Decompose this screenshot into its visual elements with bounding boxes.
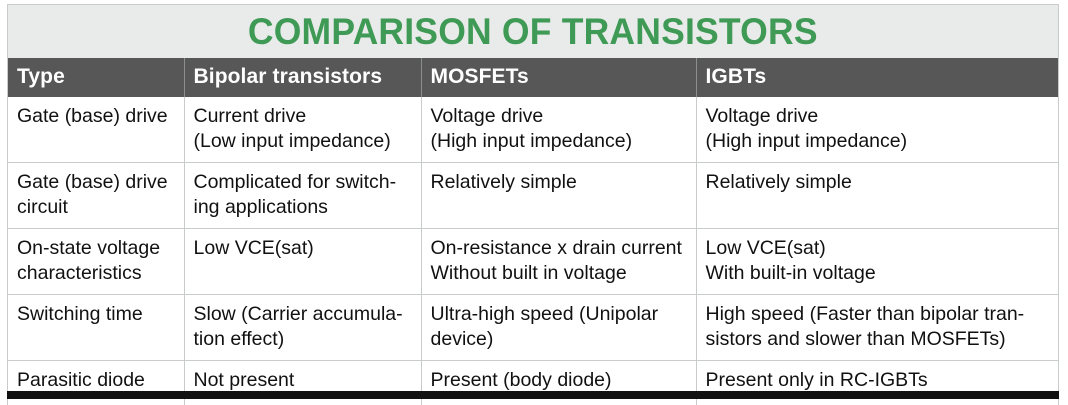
cell-line: Ultra-high speed (Unipolar	[431, 302, 688, 327]
cell-igbt: Voltage drive (High input impedance)	[696, 97, 1058, 163]
cell-line: Parasitic diode	[17, 368, 176, 393]
cell-line: Voltage drive	[706, 104, 1051, 129]
transistor-comparison-table: Type Bipolar transistors MOSFETs IGBTs G…	[8, 58, 1058, 405]
cell-line: On-resistance x drain current	[431, 236, 688, 261]
cell-line: (High input impedance)	[706, 129, 1051, 154]
cell-line: (Low input impedance)	[194, 129, 413, 154]
column-header-igbts: IGBTs	[696, 58, 1058, 97]
cell-line: Complicated for switch-	[194, 170, 413, 195]
cell-type: Gate (base) drive	[8, 97, 184, 163]
cell-line: High speed (Faster than bipolar tran-	[706, 302, 1051, 327]
cell-line: Slow (Carrier accumula-	[194, 302, 413, 327]
cell-line: (High input impedance)	[431, 129, 688, 154]
cell-line: Gate (base) drive	[17, 104, 176, 129]
table-row: Gate (base) drive circuit Complicated fo…	[8, 163, 1058, 229]
column-header-mosfets: MOSFETs	[421, 58, 696, 97]
comparison-table-page: COMPARISON OF TRANSISTORS Type Bipolar t…	[0, 0, 1068, 404]
header-row: Type Bipolar transistors MOSFETs IGBTs	[8, 58, 1058, 97]
cell-igbt: Relatively simple	[696, 163, 1058, 229]
cell-type: Gate (base) drive circuit	[8, 163, 184, 229]
cell-bipolar: Low VCE(sat)	[184, 229, 421, 295]
page-title: COMPARISON OF TRANSISTORS	[248, 13, 818, 50]
cell-igbt: High speed (Faster than bipolar tran- si…	[696, 295, 1058, 361]
cell-bipolar: Complicated for switch- ing applications	[184, 163, 421, 229]
column-header-bipolar: Bipolar transistors	[184, 58, 421, 97]
cell-line: Relatively simple	[706, 170, 1051, 195]
table-body: Gate (base) drive Current drive (Low inp…	[8, 97, 1058, 405]
table-bottom-rule	[7, 391, 1059, 399]
cell-line: Low VCE(sat)	[706, 236, 1051, 261]
cell-bipolar: Slow (Carrier accumula- tion effect)	[184, 295, 421, 361]
cell-type: On-state voltage characteristics	[8, 229, 184, 295]
cell-line: Present (body diode)	[431, 368, 688, 393]
cell-line: Without built in voltage	[431, 261, 688, 286]
cell-line: device)	[431, 327, 688, 352]
cell-mosfet: Relatively simple	[421, 163, 696, 229]
table-header: Type Bipolar transistors MOSFETs IGBTs	[8, 58, 1058, 97]
cell-line: Switching time	[17, 302, 176, 327]
cell-line: Low VCE(sat)	[194, 236, 413, 261]
table-container: COMPARISON OF TRANSISTORS Type Bipolar t…	[7, 4, 1059, 405]
cell-line: Current drive	[194, 104, 413, 129]
cell-line: characteristics	[17, 261, 176, 286]
cell-line: With built-in voltage	[706, 261, 1051, 286]
column-header-type: Type	[8, 58, 184, 97]
cell-mosfet: Ultra-high speed (Unipolar device)	[421, 295, 696, 361]
cell-line: On-state voltage	[17, 236, 176, 261]
cell-line: tion effect)	[194, 327, 413, 352]
cell-mosfet: Voltage drive (High input impedance)	[421, 97, 696, 163]
cell-line: Relatively simple	[431, 170, 688, 195]
table-row: Switching time Slow (Carrier accumula- t…	[8, 295, 1058, 361]
cell-line: Present only in RC-IGBTs	[706, 368, 1051, 393]
cell-line: sistors and slower than MOSFETs)	[706, 327, 1051, 352]
cell-line: Gate (base) drive	[17, 170, 176, 195]
cell-bipolar: Current drive (Low input impedance)	[184, 97, 421, 163]
table-row: On-state voltage characteristics Low VCE…	[8, 229, 1058, 295]
cell-line: circuit	[17, 195, 176, 220]
cell-line: Voltage drive	[431, 104, 688, 129]
cell-line: Not present	[194, 368, 413, 393]
title-band: COMPARISON OF TRANSISTORS	[8, 5, 1058, 58]
cell-mosfet: On-resistance x drain current Without bu…	[421, 229, 696, 295]
cell-line: ing applications	[194, 195, 413, 220]
table-row: Gate (base) drive Current drive (Low inp…	[8, 97, 1058, 163]
cell-type: Switching time	[8, 295, 184, 361]
cell-igbt: Low VCE(sat) With built-in voltage	[696, 229, 1058, 295]
